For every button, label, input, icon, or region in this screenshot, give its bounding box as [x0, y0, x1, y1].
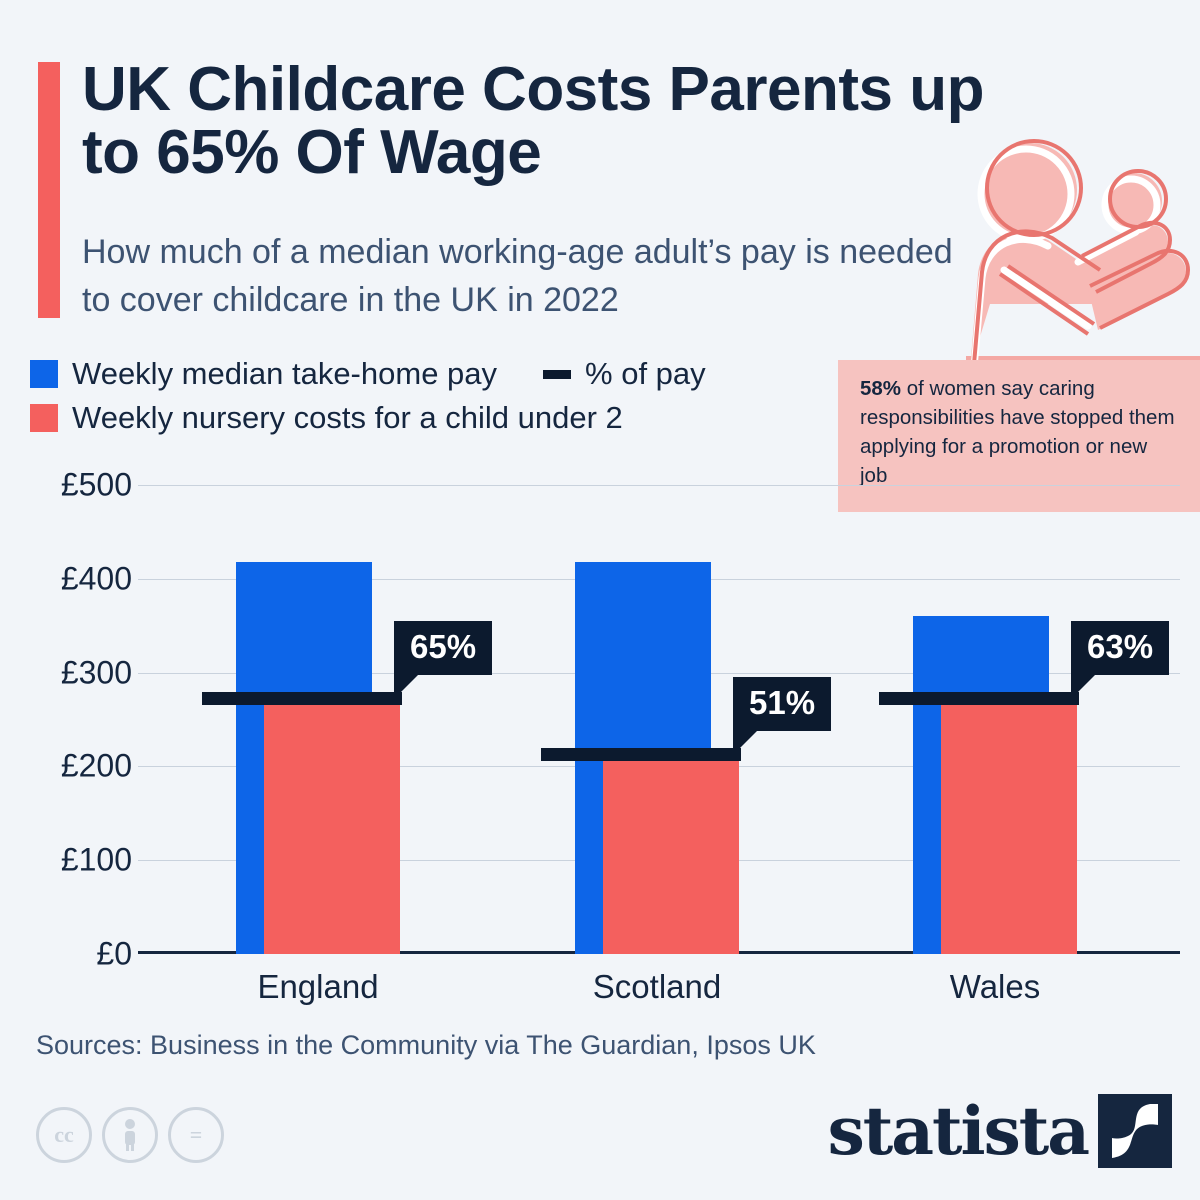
bar-nursery-cost[interactable]	[941, 699, 1077, 954]
cc-nd-icon[interactable]: =	[168, 1107, 224, 1163]
percent-badge: 65%	[394, 621, 492, 675]
legend-item-percent: % of pay	[543, 356, 706, 392]
gridline	[138, 766, 1180, 767]
percent-badge: 51%	[733, 677, 831, 731]
bar-take-home-pay[interactable]	[236, 562, 372, 954]
statista-wordmark: statista	[828, 1092, 1088, 1170]
y-axis-tick-label: £200	[61, 748, 132, 785]
bar-nursery-cost[interactable]	[603, 755, 739, 954]
percent-marker-line	[879, 692, 1079, 705]
legend-label-pay: Weekly median take-home pay	[72, 356, 497, 392]
parent-holding-baby-icon	[948, 128, 1200, 370]
percent-marker-line	[202, 692, 402, 705]
legend-row-primary: Weekly median take-home pay % of pay	[30, 352, 830, 396]
x-axis-category-label: England	[218, 968, 418, 1006]
y-axis-tick-label: £400	[61, 560, 132, 597]
legend-dash-marker-icon	[543, 370, 571, 379]
gridline	[138, 673, 1180, 674]
bar-nursery-cost[interactable]	[264, 699, 400, 954]
gridline	[138, 579, 1180, 580]
gridline	[138, 860, 1180, 861]
bar-group: 51%Scotland	[575, 485, 775, 954]
y-axis-tick-label: £500	[61, 467, 132, 504]
callout-highlight: 58%	[860, 377, 901, 400]
title-accent-bar	[38, 62, 60, 318]
statistic-callout: 58% of women say caring responsibilities…	[838, 360, 1200, 512]
legend-swatch-red-icon	[30, 404, 58, 432]
x-axis-category-label: Scotland	[557, 968, 757, 1006]
page-title: UK Childcare Costs Parents up to 65% Of …	[82, 58, 1042, 184]
legend-label-nursery: Weekly nursery costs for a child under 2	[72, 400, 623, 436]
cc-by-icon[interactable]	[102, 1107, 158, 1163]
x-axis-category-label: Wales	[895, 968, 1095, 1006]
bar-group: 63%Wales	[913, 485, 1113, 954]
cc-icon[interactable]: cc	[36, 1107, 92, 1163]
percent-marker-line	[541, 748, 741, 761]
y-axis-tick-label: £300	[61, 654, 132, 691]
x-axis-line	[138, 951, 1180, 954]
bar-group: 65%England	[236, 485, 436, 954]
legend-swatch-blue-icon	[30, 360, 58, 388]
y-axis-tick-label: £100	[61, 842, 132, 879]
bar-take-home-pay[interactable]	[575, 562, 711, 954]
page-subtitle: How much of a median working-age adult’s…	[82, 228, 972, 325]
infographic-root: UK Childcare Costs Parents up to 65% Of …	[0, 0, 1200, 1200]
bar-take-home-pay[interactable]	[913, 616, 1049, 954]
legend-label-percent: % of pay	[585, 356, 706, 392]
y-axis-tick-label: £0	[96, 936, 132, 973]
plot-area: 65%England51%Scotland63%Wales	[138, 485, 1180, 954]
statista-logo[interactable]: statista	[828, 1092, 1172, 1170]
callout-text: of women say caring responsibilities hav…	[860, 377, 1175, 487]
creative-commons-icons: cc =	[36, 1107, 224, 1163]
legend-row-secondary: Weekly nursery costs for a child under 2	[30, 396, 830, 440]
sources-note: Sources: Business in the Community via T…	[36, 1030, 816, 1061]
statista-mark-icon	[1098, 1094, 1172, 1168]
chart-legend: Weekly median take-home pay % of pay Wee…	[30, 352, 830, 440]
percent-badge: 63%	[1071, 621, 1169, 675]
